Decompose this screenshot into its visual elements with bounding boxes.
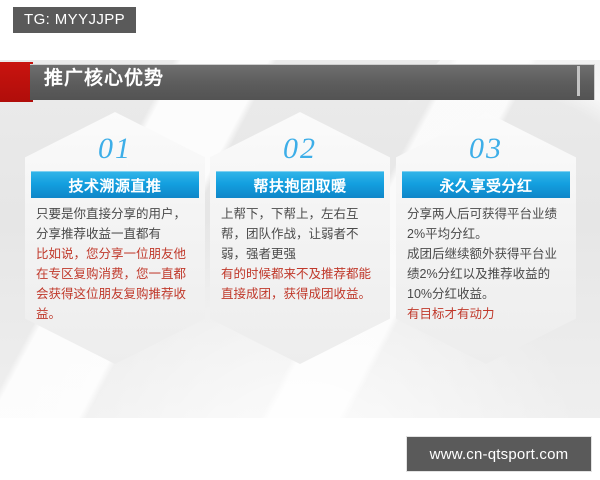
- advantage-card-list: 01 技术溯源直推 只要是你直接分享的用户，分享推荐收益一直都有 比如说，您分享…: [0, 112, 600, 372]
- card-number: 01: [25, 134, 205, 164]
- advantage-card: 01 技术溯源直推 只要是你直接分享的用户，分享推荐收益一直都有 比如说，您分享…: [25, 112, 205, 364]
- page-title: 推广核心优势: [44, 69, 164, 88]
- card-paragraph-highlight: 比如说，您分享一位朋友他在专区复购消费，您一直都会获得这位朋友复购推荐收益。: [36, 244, 196, 324]
- card-title: 帮扶抱团取暖: [216, 171, 384, 198]
- card-title: 永久享受分红: [402, 171, 570, 198]
- card-paragraph: 只要是你直接分享的用户，分享推荐收益一直都有: [36, 204, 196, 244]
- card-paragraph-highlight: 有目标才有动力: [407, 304, 567, 324]
- card-paragraph-highlight: 有的时候都来不及推荐都能直接成团，获得成团收益。: [221, 264, 381, 304]
- card-number: 03: [396, 134, 576, 164]
- card-body: 上帮下，下帮上，左右互帮，团队作战，让弱者不弱，强者更强 有的时候都来不及推荐都…: [221, 204, 381, 304]
- card-paragraph: 成团后继续额外获得平台业绩2%分红以及推荐收益的10%分红收益。: [407, 244, 567, 304]
- advantage-card: 03 永久享受分红 分享两人后可获得平台业绩2%平均分红。 成团后继续额外获得平…: [396, 112, 576, 364]
- card-paragraph: 上帮下，下帮上，左右互帮，团队作战，让弱者不弱，强者更强: [221, 204, 381, 264]
- telegram-watermark-badge: TG: MYYJJPP: [13, 7, 136, 33]
- card-number: 02: [210, 134, 390, 164]
- card-body: 分享两人后可获得平台业绩2%平均分红。 成团后继续额外获得平台业绩2%分红以及推…: [407, 204, 567, 324]
- card-title: 技术溯源直推: [31, 171, 199, 198]
- header-divider: [577, 66, 580, 96]
- header-accent-block: [0, 62, 33, 102]
- card-paragraph: 分享两人后可获得平台业绩2%平均分红。: [407, 204, 567, 244]
- advantage-card: 02 帮扶抱团取暖 上帮下，下帮上，左右互帮，团队作战，让弱者不弱，强者更强 有…: [210, 112, 390, 364]
- card-body: 只要是你直接分享的用户，分享推荐收益一直都有 比如说，您分享一位朋友他在专区复购…: [36, 204, 196, 324]
- site-url-badge: www.cn-qtsport.com: [406, 436, 592, 472]
